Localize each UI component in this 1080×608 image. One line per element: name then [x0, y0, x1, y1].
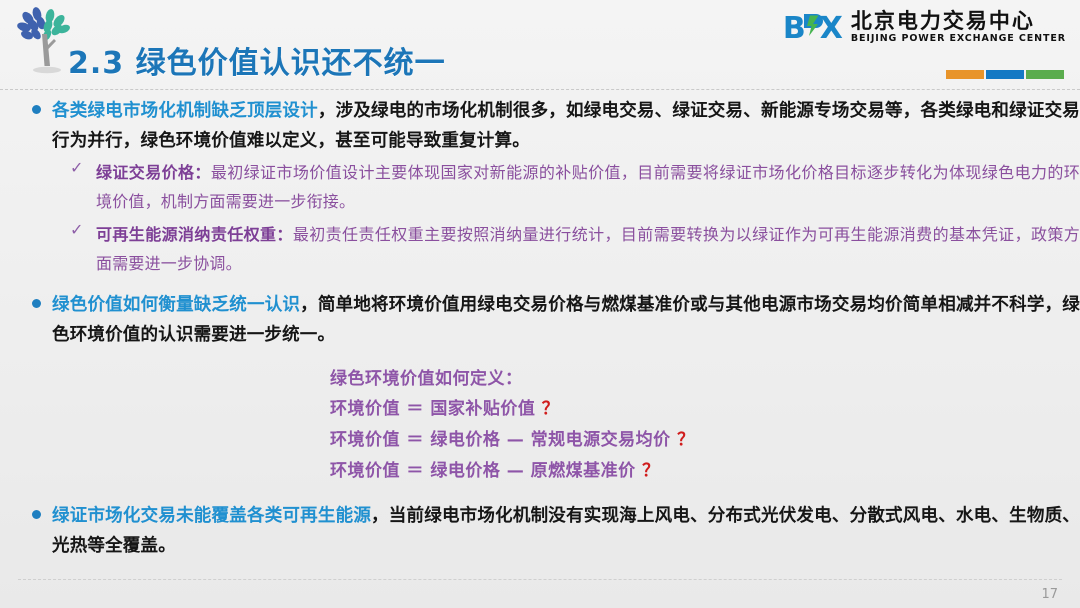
brand-color-bars	[946, 70, 1064, 79]
sub-bullet-1-text: 绿证交易价格：最初绿证市场价值设计主要体现国家对新能源的补贴价值，目前需要将绿证…	[96, 158, 1080, 216]
slide-header: 2.3 绿色价值认识还不统一 BX 北京电力交易中心 BEIJING POWER…	[0, 0, 1080, 92]
page-number: 17	[1041, 587, 1058, 602]
sub-bullet-1-lead: 绿证交易价格：	[96, 163, 211, 182]
formula-line-2-text: 环境价值 ＝ 绿电价格 — 常规电源交易均价	[330, 430, 671, 450]
brand-name-en: BEIJING POWER EXCHANGE CENTER	[851, 34, 1066, 44]
bullet-3-text: 绿证市场化交易未能覆盖各类可再生能源，当前绿电市场化机制没有实现海上风电、分布式…	[52, 501, 1080, 561]
bullet-item-2: 绿色价值如何衡量缺乏统一认识，简单地将环境价值用绿电交易价格与燃煤基准价或与其他…	[0, 290, 1080, 350]
check-icon-1: ✓	[70, 158, 83, 177]
color-bar-blue	[986, 70, 1024, 79]
formula-line-1-question: ？	[542, 399, 560, 419]
formula-line-3-text: 环境价值 ＝ 绿电价格 — 原燃煤基准价	[330, 461, 636, 481]
formula-line-1: 环境价值 ＝ 国家补贴价值 ？	[330, 394, 1080, 425]
bpx-wordmark-icon: BX	[783, 10, 842, 44]
formula-line-3: 环境价值 ＝ 绿电价格 — 原燃煤基准价 ？	[330, 456, 1080, 487]
color-bar-green	[1026, 70, 1064, 79]
bullet-dot-icon	[32, 510, 41, 519]
page-title: 2.3 绿色价值认识还不统一	[68, 38, 446, 82]
formula-title: 绿色环境价值如何定义：	[330, 364, 1080, 394]
check-icon-2: ✓	[70, 220, 83, 239]
sub-bullet-2: ✓ 可再生能源消纳责任权重：最初责任责任权重主要按照消纳量进行统计，目前需要转换…	[0, 220, 1080, 278]
bullet-2-highlight: 绿色价值如何衡量缺乏统一认识	[52, 295, 300, 315]
formula-block: 绿色环境价值如何定义： 环境价值 ＝ 国家补贴价值 ？ 环境价值 ＝ 绿电价格 …	[0, 364, 1080, 487]
slide-content: 各类绿电市场化机制缺乏顶层设计，涉及绿电的市场化机制很多，如绿电交易、绿证交易、…	[0, 96, 1080, 563]
bullet-dot-icon	[32, 105, 41, 114]
spacer-1	[0, 278, 1080, 290]
formula-line-2-question: ？	[677, 430, 695, 450]
header-divider	[0, 89, 1080, 90]
brand-name-cn: 北京电力交易中心	[851, 10, 1066, 32]
color-bar-orange	[946, 70, 984, 79]
sub-bullet-1-body: 最初绿证市场价值设计主要体现国家对新能源的补贴价值，目前需要将绿证市场化价格目标…	[96, 163, 1080, 211]
bullet-3-highlight: 绿证市场化交易未能覆盖各类可再生能源	[52, 506, 371, 526]
bullet-1-highlight: 各类绿电市场化机制缺乏顶层设计	[52, 101, 318, 121]
formula-line-3-question: ？	[642, 461, 660, 481]
brand-logo: BX 北京电力交易中心 BEIJING POWER EXCHANGE CENTE…	[783, 10, 1066, 44]
bullet-dot-icon	[32, 299, 41, 308]
bullet-item-3: 绿证市场化交易未能覆盖各类可再生能源，当前绿电市场化机制没有实现海上风电、分布式…	[0, 501, 1080, 561]
sub-bullet-2-lead: 可再生能源消纳责任权重：	[96, 225, 293, 244]
footer-divider	[18, 579, 1062, 580]
bullet-item-1: 各类绿电市场化机制缺乏顶层设计，涉及绿电的市场化机制很多，如绿电交易、绿证交易、…	[0, 96, 1080, 156]
sub-bullet-1: ✓ 绿证交易价格：最初绿证市场价值设计主要体现国家对新能源的补贴价值，目前需要将…	[0, 158, 1080, 216]
formula-line-2: 环境价值 ＝ 绿电价格 — 常规电源交易均价 ？	[330, 425, 1080, 456]
bullet-1-text: 各类绿电市场化机制缺乏顶层设计，涉及绿电的市场化机制很多，如绿电交易、绿证交易、…	[52, 96, 1080, 156]
bullet-2-text: 绿色价值如何衡量缺乏统一认识，简单地将环境价值用绿电交易价格与燃煤基准价或与其他…	[52, 290, 1080, 350]
sub-bullet-2-text: 可再生能源消纳责任权重：最初责任责任权重主要按照消纳量进行统计，目前需要转换为以…	[96, 220, 1080, 278]
formula-line-1-text: 环境价值 ＝ 国家补贴价值	[330, 399, 535, 419]
slide-root: 2.3 绿色价值认识还不统一 BX 北京电力交易中心 BEIJING POWER…	[0, 0, 1080, 608]
